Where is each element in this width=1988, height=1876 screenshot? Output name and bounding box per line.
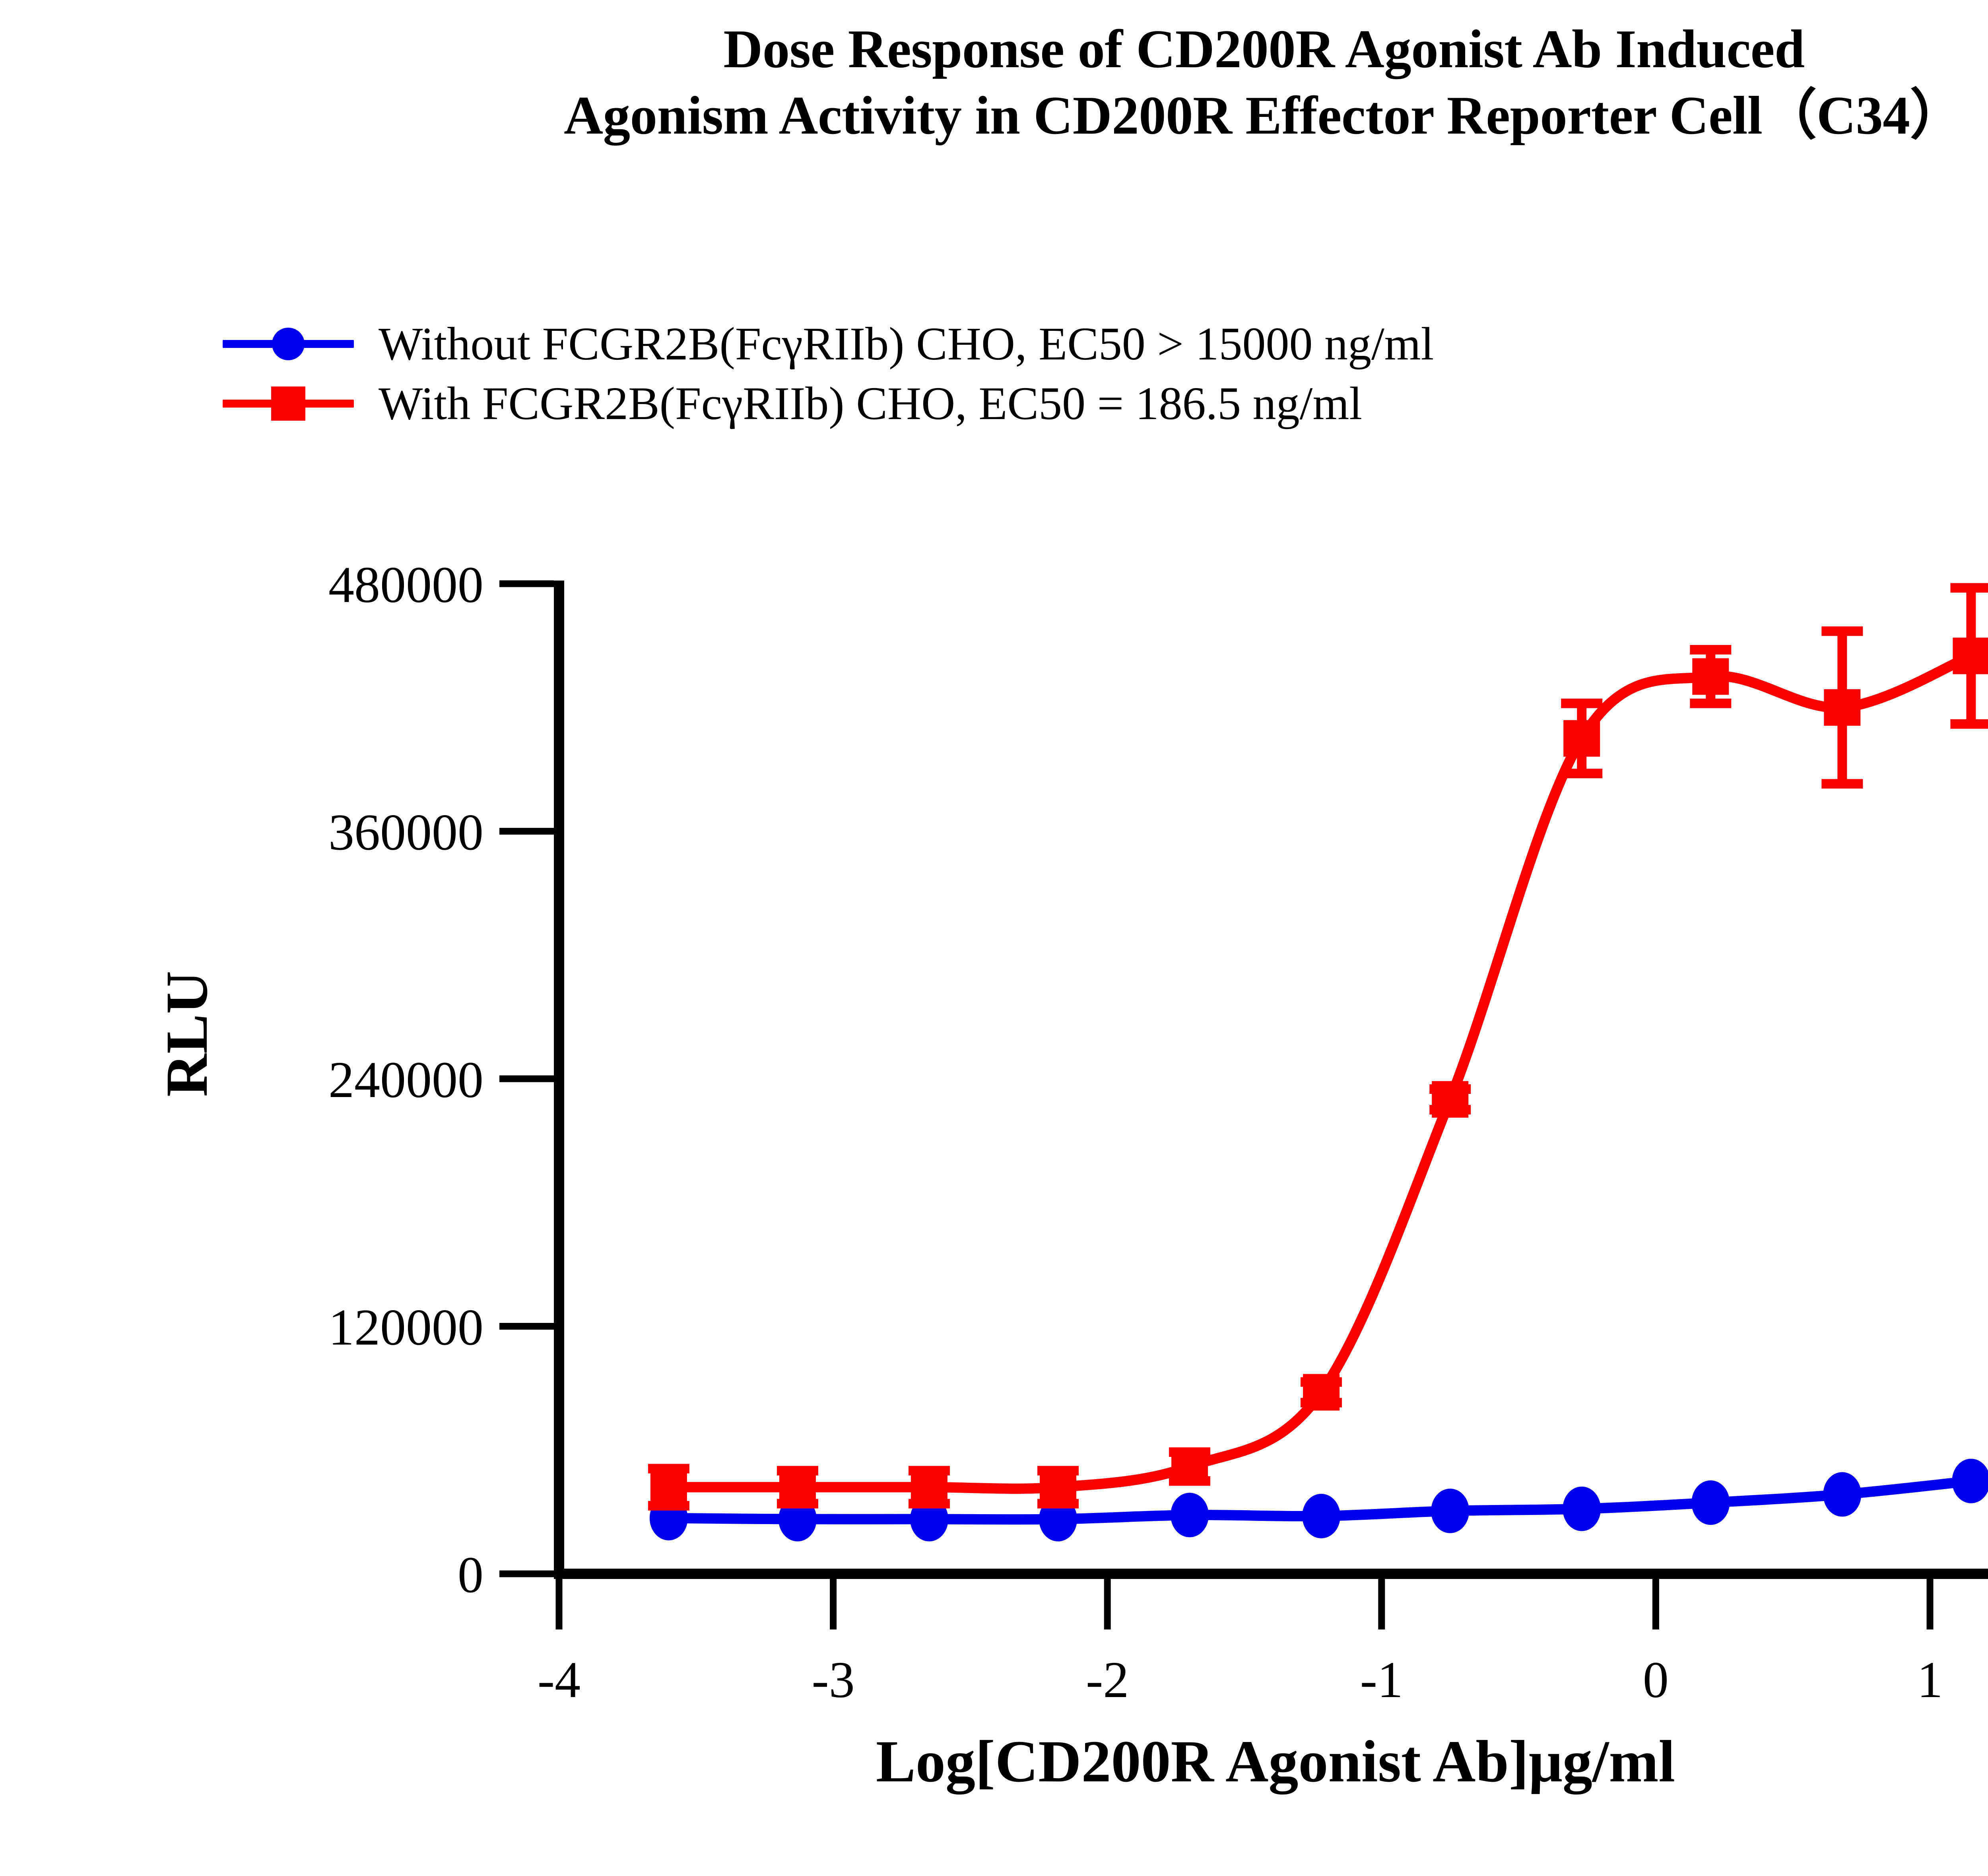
data-point-marker[interactable] [1302,1494,1340,1538]
data-point-marker[interactable] [1691,1480,1730,1525]
y-axis-title: RLU [154,971,220,1097]
data-point-marker[interactable] [779,1469,816,1505]
y-tick-label: 0 [458,1546,483,1604]
data-point-marker[interactable] [1171,1493,1209,1537]
data-point-marker[interactable] [1040,1469,1076,1505]
data-point-marker[interactable] [1692,658,1729,695]
data-point-marker[interactable] [1823,1472,1861,1517]
series-layer [648,588,1988,1541]
data-point-marker[interactable] [1303,1374,1340,1411]
data-point-marker[interactable] [1431,1489,1469,1533]
series-without-fcgr2b [650,1459,1988,1542]
data-point-marker[interactable] [1171,1448,1208,1485]
series-curve [669,656,1971,1489]
data-point-marker[interactable] [911,1469,947,1505]
data-point-marker[interactable] [1563,1487,1601,1531]
y-tick-label: 120000 [328,1299,483,1356]
y-tick-label: 240000 [328,1051,483,1109]
data-point-marker[interactable] [650,1469,687,1505]
data-point-marker[interactable] [1563,720,1600,757]
y-tick-label: 480000 [328,556,483,614]
x-axis-title: Log[CD200R Agonist Ab]μg/ml [876,1728,1675,1794]
x-tick-label: -2 [1086,1651,1129,1709]
data-point-marker[interactable] [1432,1081,1468,1118]
x-tick-label: -1 [1360,1651,1403,1709]
x-tick-label: 1 [1917,1651,1943,1709]
chart-root: Dose Response of CD200R Agonist Ab Induc… [0,0,1988,1876]
chart-svg: -4-3-2-1010120000240000360000480000RLULo… [0,0,1988,1876]
y-tick-label: 360000 [328,804,483,861]
data-point-marker[interactable] [1953,638,1988,674]
data-point-marker[interactable] [1952,1459,1988,1503]
x-tick-label: -3 [812,1651,854,1709]
x-tick-label: 0 [1643,1651,1669,1709]
series-with-fcgr2b [648,588,1988,1505]
data-point-marker[interactable] [1824,689,1860,726]
axis-labels: -4-3-2-1010120000240000360000480000RLULo… [154,556,1943,1794]
axis-layer [499,581,1988,1629]
x-tick-label: -4 [538,1651,580,1709]
plot-area: -4-3-2-1010120000240000360000480000RLULo… [0,0,1988,1876]
